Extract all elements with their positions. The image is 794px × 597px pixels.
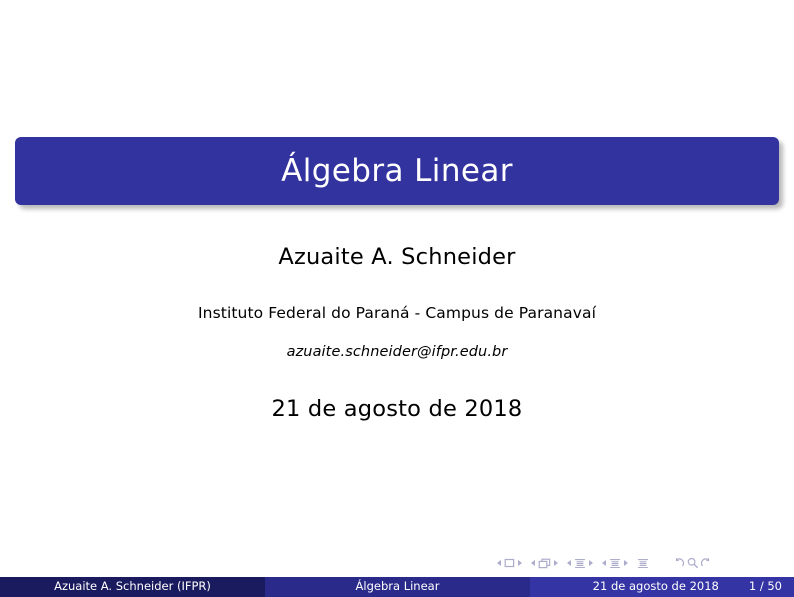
slide-next-icon[interactable]: [518, 560, 522, 566]
institute-name: Instituto Federal do Paraná - Campus de …: [0, 269, 794, 322]
presentation-slide: Álgebra Linear Azuaite A. Schneider Inst…: [0, 0, 794, 597]
footer-author: Azuaite A. Schneider (IFPR): [0, 577, 265, 597]
subsection-next-icon[interactable]: [589, 560, 593, 566]
footer-right-section: 21 de agosto de 2018 1 / 50: [530, 577, 794, 597]
back-icon[interactable]: [672, 557, 685, 569]
footer-title: Álgebra Linear: [265, 577, 530, 597]
slide-previous-icon[interactable]: [497, 560, 501, 566]
frame-previous-icon[interactable]: [531, 560, 535, 566]
frame-icon[interactable]: [538, 558, 551, 569]
title-block: Álgebra Linear: [15, 137, 779, 205]
slide-icon[interactable]: [504, 558, 515, 568]
presentation-navigation-group[interactable]: [637, 558, 649, 569]
document-navigation-group[interactable]: [672, 557, 713, 569]
page-title: Álgebra Linear: [271, 156, 523, 187]
frame-navigation-group[interactable]: [531, 558, 558, 569]
section-navigation-group[interactable]: [602, 558, 628, 569]
author-email: azuaite.schneider@ifpr.edu.br: [0, 321, 794, 360]
frame-next-icon[interactable]: [554, 560, 558, 566]
footer-date: 21 de agosto de 2018: [593, 581, 719, 593]
section-icon[interactable]: [609, 558, 621, 569]
section-next-icon[interactable]: [624, 560, 628, 566]
footer-page-number: 1 / 50: [749, 581, 782, 593]
presentation-icon[interactable]: [637, 558, 649, 569]
beamer-navigation-symbols[interactable]: [497, 554, 787, 572]
subsection-icon[interactable]: [574, 558, 586, 569]
subsection-previous-icon[interactable]: [567, 560, 571, 566]
forward-icon[interactable]: [700, 557, 713, 569]
search-icon[interactable]: [686, 557, 699, 569]
slide-navigation-group[interactable]: [497, 558, 522, 568]
section-previous-icon[interactable]: [602, 560, 606, 566]
title-metadata: Azuaite A. Schneider Instituto Federal d…: [0, 240, 794, 420]
author-name: Azuaite A. Schneider: [0, 240, 794, 269]
footer-bar: Azuaite A. Schneider (IFPR) Álgebra Line…: [0, 577, 794, 597]
subsection-navigation-group[interactable]: [567, 558, 593, 569]
presentation-date: 21 de agosto de 2018: [0, 360, 794, 421]
